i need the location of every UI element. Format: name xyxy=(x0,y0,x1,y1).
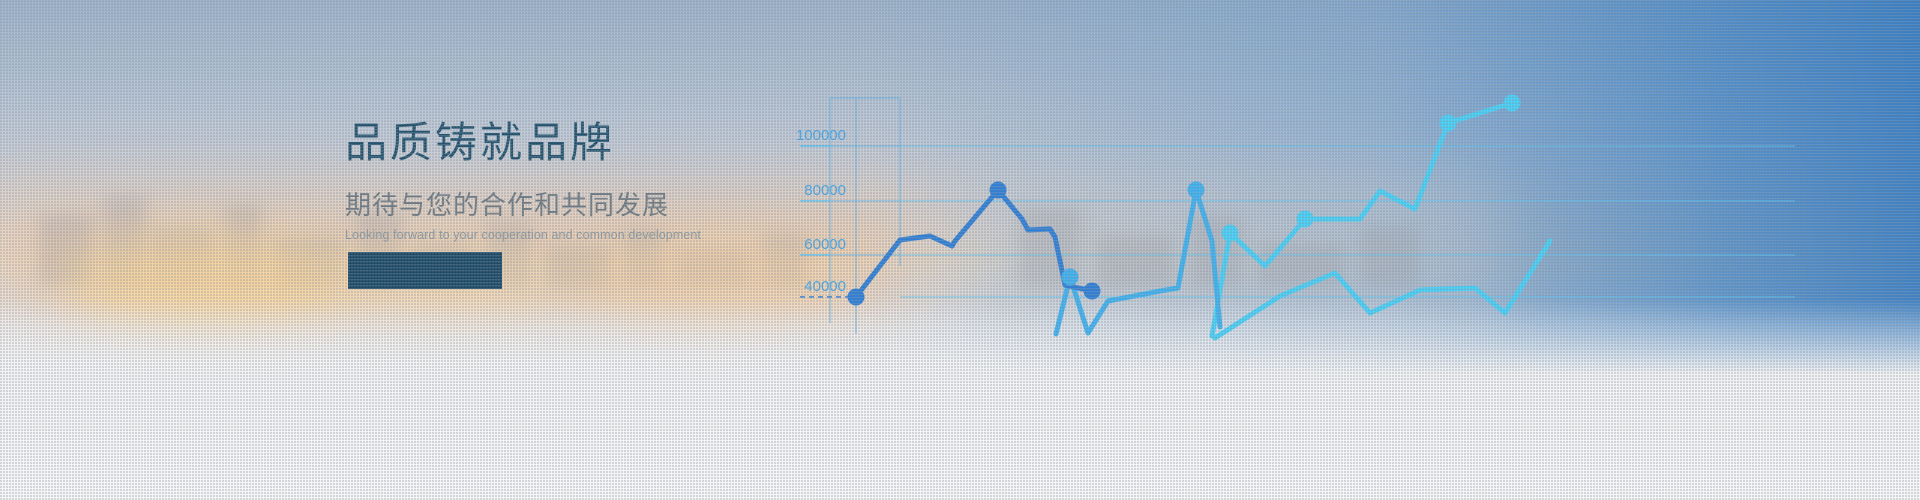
dot-pattern-overlay xyxy=(0,0,1920,500)
hero-banner: 100000 80000 60000 40000 xyxy=(0,0,1920,500)
